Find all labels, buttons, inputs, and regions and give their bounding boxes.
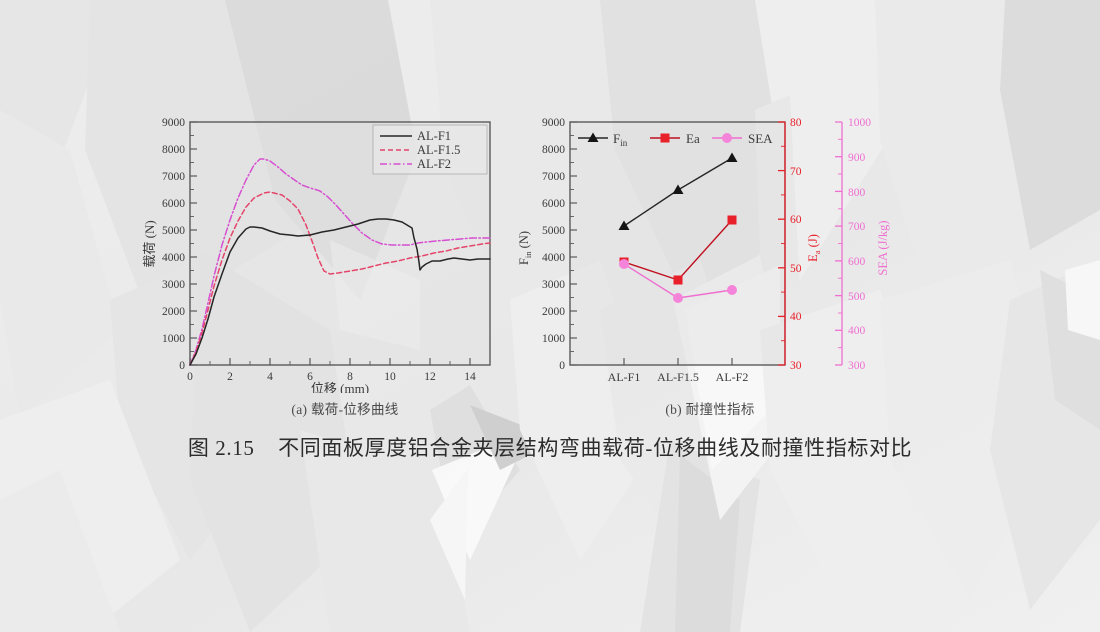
svg-text:7000: 7000	[162, 171, 185, 183]
svg-text:5000: 5000	[542, 225, 565, 237]
svg-text:70: 70	[790, 166, 802, 178]
y-axis-title-a: 载荷 (N)	[142, 220, 157, 267]
svg-text:600: 600	[848, 256, 866, 268]
svg-text:30: 30	[790, 360, 802, 372]
svg-text:AL-F1: AL-F1	[608, 370, 641, 384]
svg-text:300: 300	[848, 360, 866, 372]
chart-crashworthiness: 0 1000 2000 3000 4000 5000 6000 7000 800…	[512, 108, 902, 393]
svg-text:6000: 6000	[162, 198, 185, 210]
svg-text:1000: 1000	[542, 333, 565, 345]
svg-text:8000: 8000	[542, 144, 565, 156]
figure-caption-text: 不同面板厚度铝合金夹层结构弯曲载荷-位移曲线及耐撞性指标对比	[278, 436, 912, 460]
svg-text:0: 0	[187, 371, 193, 383]
y-tick-labels-ea: 30 40 50 60 70 80	[790, 117, 802, 372]
y-axis-title-sea: SEA (J/kg)	[876, 220, 890, 275]
legend-label-al-f1p5: AL-F1.5	[417, 143, 460, 157]
svg-text:400: 400	[848, 325, 866, 337]
svg-text:2: 2	[227, 371, 233, 383]
legend-label-al-f1: AL-F1	[417, 129, 451, 143]
svg-text:4000: 4000	[542, 252, 565, 264]
figure-number: 图 2.15	[188, 436, 255, 460]
svg-text:9000: 9000	[542, 117, 565, 129]
svg-text:0: 0	[179, 360, 185, 372]
svg-text:6000: 6000	[542, 198, 565, 210]
svg-text:700: 700	[848, 221, 866, 233]
svg-text:2000: 2000	[542, 306, 565, 318]
x-tick-labels-b: AL-F1 AL-F1.5 AL-F2	[608, 370, 749, 384]
y-axis-title-fin: Fin (N)	[517, 231, 533, 265]
plot-area-b	[570, 122, 785, 365]
svg-text:10: 10	[384, 371, 396, 383]
svg-text:7000: 7000	[542, 171, 565, 183]
subcaption-b: (b) 耐撞性指标	[560, 398, 860, 418]
svg-text:3000: 3000	[162, 279, 185, 291]
y-tick-labels-sea: 300 400 500 600 700 800 900 1000	[848, 117, 871, 372]
svg-text:5000: 5000	[162, 225, 185, 237]
legend-a: AL-F1 AL-F1.5 AL-F2	[373, 125, 487, 174]
svg-text:900: 900	[848, 152, 866, 164]
svg-text:14: 14	[464, 371, 476, 383]
svg-text:1000: 1000	[848, 117, 871, 129]
y-tick-labels-a: 0 1000 2000 3000 4000 5000 6000 7000 800…	[162, 117, 185, 372]
y-axis-title-ea: Ea (J)	[806, 234, 822, 262]
subcaption-a: (a) 载荷-位移曲线	[190, 398, 500, 418]
legend-label-ea: Ea	[686, 131, 700, 146]
figure-caption: 图 2.15 不同面板厚度铝合金夹层结构弯曲载荷-位移曲线及耐撞性指标对比	[0, 432, 1100, 462]
subcaption-row: (a) 载荷-位移曲线 (b) 耐撞性指标	[0, 398, 1100, 420]
svg-text:800: 800	[848, 187, 866, 199]
svg-text:500: 500	[848, 291, 866, 303]
y-axis-sea	[835, 122, 842, 365]
x-axis-title-a: 位移 (mm)	[311, 381, 369, 393]
svg-text:4: 4	[267, 371, 273, 383]
y-tick-labels-fin: 0 1000 2000 3000 4000 5000 6000 7000 800…	[542, 117, 565, 372]
svg-text:3000: 3000	[542, 279, 565, 291]
svg-text:2000: 2000	[162, 306, 185, 318]
svg-text:9000: 9000	[162, 117, 185, 129]
figure-container: 0 1000 2000 3000 4000 5000 6000 7000 800…	[0, 0, 1100, 632]
svg-text:AL-F2: AL-F2	[716, 370, 749, 384]
svg-text:4000: 4000	[162, 252, 185, 264]
svg-text:AL-F1.5: AL-F1.5	[657, 370, 699, 384]
svg-text:8000: 8000	[162, 144, 185, 156]
legend-label-al-f2: AL-F2	[417, 157, 451, 171]
svg-text:50: 50	[790, 263, 802, 275]
svg-text:80: 80	[790, 117, 802, 129]
chart-load-displacement: 0 1000 2000 3000 4000 5000 6000 7000 800…	[140, 108, 510, 393]
svg-text:60: 60	[790, 214, 802, 226]
legend-label-sea: SEA	[748, 131, 773, 146]
svg-text:0: 0	[559, 360, 565, 372]
svg-text:12: 12	[424, 371, 436, 383]
svg-text:1000: 1000	[162, 333, 185, 345]
svg-text:40: 40	[790, 311, 802, 323]
